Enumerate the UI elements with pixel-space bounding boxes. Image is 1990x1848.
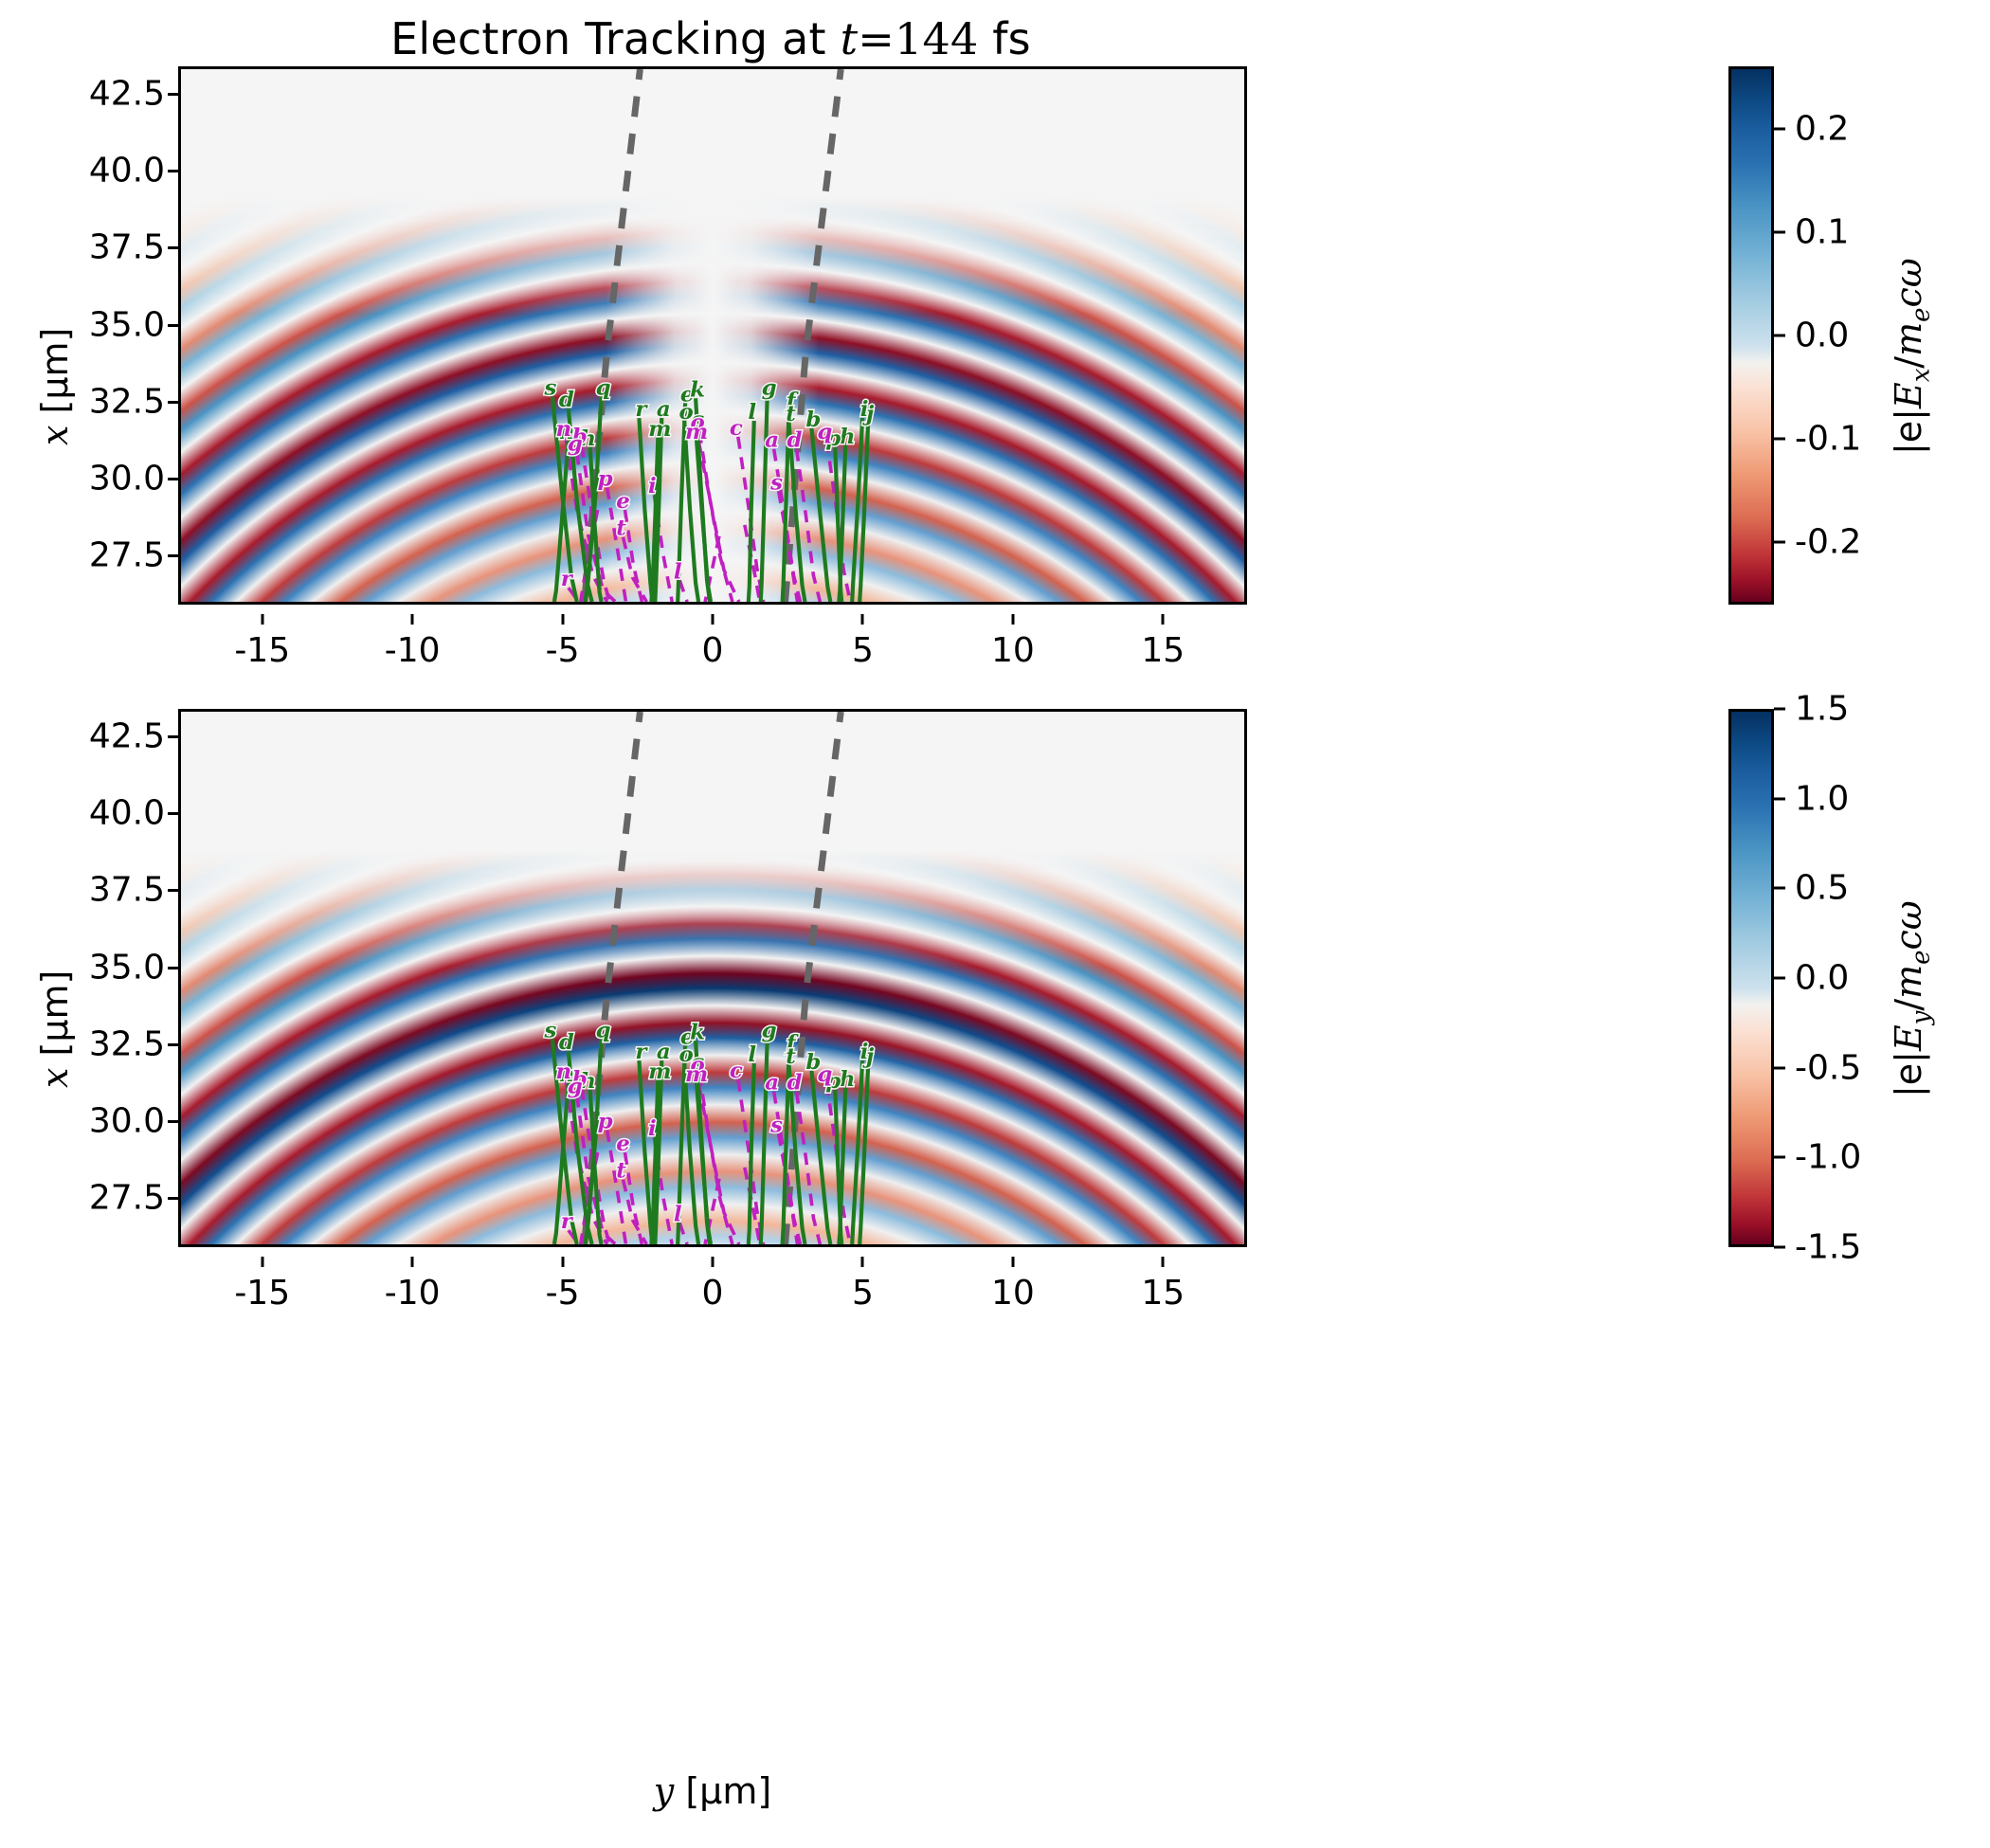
cbar-pre: |e| (1888, 1051, 1929, 1097)
x-tick-label: 0 (702, 631, 724, 670)
x-tick-label: -5 (546, 1274, 580, 1313)
y-tick-label: 40.0 (89, 794, 165, 833)
svg-text:h: h (840, 1067, 856, 1092)
colorbar-ticks-ey: 1.51.00.50.0-0.5-1.0-1.5 (1728, 709, 1975, 1247)
x-tick-label: -10 (385, 631, 441, 670)
axes-ey: sd qr ae ko cg fl tb ij hp mh n nb gp et (178, 709, 1247, 1247)
y-tick-label: 32.5 (89, 1024, 165, 1063)
y-tick-label: 27.5 (89, 536, 165, 575)
colorbar-tick-label: 0.1 (1795, 212, 1849, 251)
svg-text:s: s (543, 1018, 556, 1042)
svg-text:l: l (748, 400, 756, 425)
svg-text:c: c (730, 416, 743, 441)
cbar-omega: ω (1888, 900, 1929, 930)
cbar-symbol: E (1888, 1024, 1929, 1051)
colorbar-label-ey: |e|Ey/mecω (1888, 900, 1936, 1097)
y-tick-mark (168, 1120, 178, 1123)
field-map-ey: sd qr ae ko cg fl tb ij hp mh n nb gp et (181, 712, 1244, 1244)
svg-text:m: m (685, 420, 708, 444)
cbar-mass: m (1888, 965, 1929, 999)
cbar-slash: / (1888, 356, 1929, 369)
y-tick-mark (168, 324, 178, 327)
svg-text:r: r (561, 567, 574, 591)
svg-text:d: d (559, 1030, 574, 1055)
y-tick-mark (168, 735, 178, 738)
y-tick-label: 27.5 (89, 1179, 165, 1218)
x-tick-mark (712, 614, 715, 625)
svg-text:d: d (787, 428, 803, 453)
y-axis-label-unit: [μm] (34, 328, 76, 426)
svg-text:p: p (598, 466, 613, 491)
svg-text:t: t (786, 1044, 796, 1069)
svg-text:q: q (817, 1062, 832, 1087)
y-tick-label: 37.5 (89, 228, 165, 267)
cbar-mass-sub: e (1908, 308, 1936, 322)
cbar-omega: ω (1888, 258, 1929, 287)
x-tick-label: 5 (852, 631, 874, 670)
svg-text:k: k (690, 1020, 705, 1044)
cbar-symbol: E (1888, 382, 1929, 408)
x-tick-labels-ey: -15-10-5051015 (178, 1257, 1247, 1314)
svg-text:r: r (635, 1040, 648, 1064)
colorbar-tick-mark (1774, 1156, 1785, 1159)
figure-root: Electron Tracking at t=144 fs (0, 0, 1990, 1848)
title-value: 144 (895, 13, 978, 64)
y-tick-mark (168, 170, 178, 172)
colorbar-tick-label: 1.5 (1795, 690, 1849, 729)
svg-text:i: i (648, 474, 657, 498)
svg-text:l: l (674, 559, 682, 584)
svg-text:p: p (598, 1109, 613, 1133)
x-tick-mark (261, 1257, 263, 1267)
cbar-slash: / (1888, 999, 1929, 1011)
colorbar-tick-label: 0.2 (1795, 109, 1849, 148)
cbar-subscript: y (1908, 1011, 1936, 1025)
x-tick-mark (861, 614, 864, 625)
x-tick-label: 5 (852, 1274, 874, 1313)
cbar-pre: |e| (1888, 408, 1929, 455)
x-tick-mark (1162, 1257, 1165, 1267)
y-tick-mark (168, 246, 178, 249)
colorbar-label-ex: |e|Ex/mecω (1888, 258, 1936, 455)
colorbar-tick-mark (1774, 977, 1785, 980)
svg-text:m: m (648, 417, 671, 442)
svg-text:i: i (648, 1116, 657, 1141)
svg-text:m: m (648, 1060, 671, 1084)
x-tick-mark (1011, 1257, 1014, 1267)
x-tick-mark (411, 614, 414, 625)
y-tick-label: 42.5 (89, 717, 165, 756)
page-title: Electron Tracking at t=144 fs (0, 13, 1421, 64)
x-tick-label: -15 (234, 1274, 290, 1313)
colorbar-tick-mark (1774, 1066, 1785, 1069)
y-tick-label: 37.5 (89, 871, 165, 910)
svg-text:r: r (635, 397, 648, 422)
svg-text:a: a (765, 1071, 779, 1096)
y-tick-mark (168, 93, 178, 96)
x-tick-label: 10 (991, 631, 1035, 670)
y-tick-mark (168, 1043, 178, 1046)
svg-text:g: g (762, 375, 777, 400)
x-tick-labels-ex: -15-10-5051015 (178, 614, 1247, 671)
y-tick-mark (168, 889, 178, 892)
y-tick-label: 35.0 (89, 305, 165, 344)
y-tick-label: 42.5 (89, 75, 165, 114)
colorbar-tick-label: 0.5 (1795, 869, 1849, 908)
y-tick-mark (168, 1197, 178, 1200)
colorbar-tick-mark (1774, 887, 1785, 890)
x-tick-label: -5 (546, 631, 580, 670)
y-axis-label-ex: x [μm] (34, 328, 76, 445)
svg-text:q: q (596, 375, 611, 400)
x-axis-label-var: y (654, 1770, 674, 1812)
y-tick-label: 30.0 (89, 1101, 165, 1140)
x-tick-label: 15 (1141, 631, 1185, 670)
y-axis-label-var: x (34, 1068, 76, 1088)
colorbar-tick-label: -0.5 (1795, 1048, 1861, 1087)
title-unit: fs (978, 13, 1030, 64)
svg-text:k: k (690, 377, 705, 402)
cbar-mass: m (1888, 322, 1929, 356)
x-tick-label: 15 (1141, 1274, 1185, 1313)
colorbar-tick-mark (1774, 708, 1785, 711)
x-tick-mark (261, 614, 263, 625)
x-tick-mark (861, 1257, 864, 1267)
colorbar-tick-label: 0.0 (1795, 317, 1849, 355)
colorbar-tick-mark (1774, 230, 1785, 233)
colorbar-tick-label: -1.5 (1795, 1228, 1861, 1267)
x-tick-label: 10 (991, 1274, 1035, 1313)
x-tick-mark (561, 614, 564, 625)
axes-ex: sd qr ae ko cg fl tb ij hp mh n nb gp et (178, 66, 1247, 605)
x-tick-label: 0 (702, 1274, 724, 1313)
svg-text:e: e (616, 489, 630, 514)
colorbar-tick-label: 1.0 (1795, 779, 1849, 818)
colorbar-tick-mark (1774, 127, 1785, 130)
svg-text:e: e (616, 1132, 630, 1156)
colorbar-tick-label: -0.2 (1795, 523, 1861, 562)
colorbar-tick-mark (1774, 438, 1785, 441)
colorbar-tick-mark (1774, 797, 1785, 800)
y-tick-label: 30.0 (89, 459, 165, 498)
svg-text:m: m (685, 1062, 708, 1087)
svg-text:t: t (616, 516, 626, 541)
svg-text:r: r (561, 1209, 574, 1234)
svg-text:h: h (840, 425, 856, 449)
svg-text:s: s (769, 1113, 783, 1137)
y-tick-mark (168, 812, 178, 815)
svg-text:l: l (674, 1202, 682, 1226)
title-equals: = (858, 13, 895, 64)
x-axis-label: y [μm] (178, 1770, 1247, 1812)
y-axis-label-unit: [μm] (34, 970, 76, 1068)
y-tick-mark (168, 967, 178, 969)
y-tick-mark (168, 401, 178, 404)
title-variable: t (841, 13, 859, 64)
y-tick-label: 32.5 (89, 382, 165, 421)
cbar-mass-sub: e (1908, 951, 1936, 965)
y-tick-label: 35.0 (89, 948, 165, 987)
svg-text:g: g (568, 1075, 583, 1099)
y-tick-mark (168, 554, 178, 557)
svg-text:d: d (787, 1071, 803, 1096)
x-tick-mark (712, 1257, 715, 1267)
y-axis-label-var: x (34, 426, 76, 445)
cbar-subscript: x (1908, 369, 1936, 383)
colorbar-tick-mark (1774, 541, 1785, 544)
svg-text:t: t (786, 402, 796, 426)
svg-text:g: g (568, 432, 583, 457)
svg-text:q: q (817, 420, 832, 444)
x-tick-mark (1162, 614, 1165, 625)
colorbar-tick-label: 0.0 (1795, 959, 1849, 998)
x-tick-mark (561, 1257, 564, 1267)
y-tick-mark (168, 478, 178, 480)
x-tick-label: -10 (385, 1274, 441, 1313)
x-axis-label-unit: [μm] (674, 1770, 771, 1812)
y-tick-label: 40.0 (89, 152, 165, 190)
colorbar-tick-mark (1774, 335, 1785, 337)
x-tick-mark (411, 1257, 414, 1267)
colorbar-tick-mark (1774, 1246, 1785, 1249)
cbar-c: c (1888, 930, 1929, 950)
svg-text:s: s (543, 375, 556, 400)
x-tick-mark (1011, 614, 1014, 625)
colorbar-tick-label: -1.0 (1795, 1138, 1861, 1177)
svg-text:a: a (765, 428, 779, 453)
svg-text:c: c (730, 1059, 743, 1083)
colorbar-ticks-ex: 0.20.10.0-0.1-0.2 (1728, 66, 1975, 605)
svg-text:l: l (748, 1042, 756, 1067)
cbar-c: c (1888, 287, 1929, 307)
colorbar-tick-label: -0.1 (1795, 420, 1861, 459)
x-tick-label: -15 (234, 631, 290, 670)
svg-text:s: s (769, 470, 783, 495)
title-prefix: Electron Tracking at (390, 13, 840, 64)
svg-text:q: q (596, 1018, 611, 1042)
field-map-ex: sd qr ae ko cg fl tb ij hp mh n nb gp et (181, 69, 1244, 602)
svg-text:g: g (762, 1018, 777, 1042)
svg-text:t: t (616, 1159, 626, 1184)
svg-text:d: d (559, 388, 574, 412)
y-axis-label-ey: x [μm] (34, 970, 76, 1088)
